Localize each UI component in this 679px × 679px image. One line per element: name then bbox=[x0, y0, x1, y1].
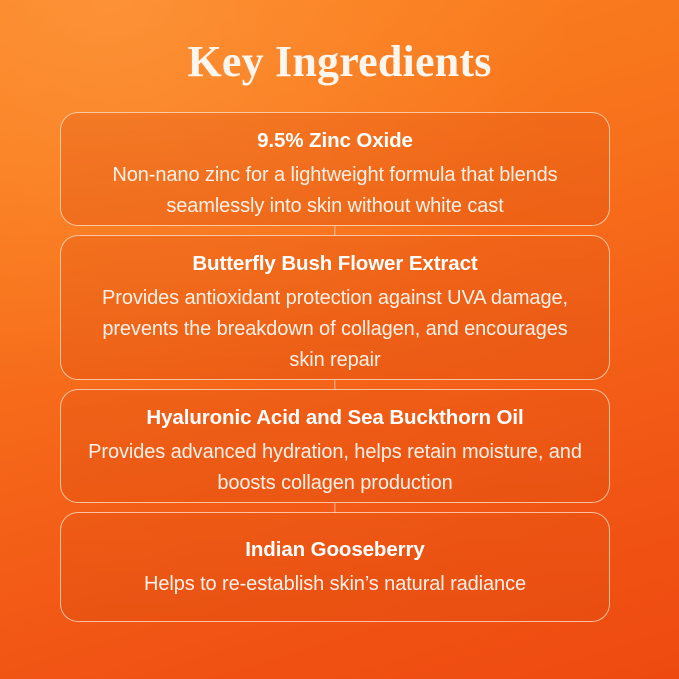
ingredient-card-heading: Hyaluronic Acid and Sea Buckthorn Oil bbox=[83, 404, 587, 432]
key-ingredients-poster: Key Ingredients 9.5% Zinc Oxide Non-nano… bbox=[0, 0, 679, 679]
poster-content: Key Ingredients 9.5% Zinc Oxide Non-nano… bbox=[0, 0, 679, 679]
ingredient-card-body: Provides antioxidant protection against … bbox=[83, 283, 587, 376]
ingredient-card-body: Non-nano zinc for a lightweight formula … bbox=[83, 160, 587, 222]
ingredient-card-zinc-oxide: 9.5% Zinc Oxide Non-nano zinc for a ligh… bbox=[60, 112, 610, 226]
ingredient-card-heading: Indian Gooseberry bbox=[83, 536, 587, 564]
ingredient-card-butterfly-bush-flower-extract: Butterfly Bush Flower Extract Provides a… bbox=[60, 235, 610, 380]
ingredient-card-heading: 9.5% Zinc Oxide bbox=[83, 127, 587, 155]
ingredient-card-body: Helps to re-establish skin’s natural rad… bbox=[83, 569, 587, 600]
ingredient-card-body: Provides advanced hydration, helps retai… bbox=[83, 437, 587, 499]
ingredient-card-hyaluronic-acid-sea-buckthorn-oil: Hyaluronic Acid and Sea Buckthorn Oil Pr… bbox=[60, 389, 610, 503]
ingredient-card-indian-gooseberry: Indian Gooseberry Helps to re-establish … bbox=[60, 512, 610, 622]
ingredient-card-list: 9.5% Zinc Oxide Non-nano zinc for a ligh… bbox=[60, 112, 610, 622]
page-title: Key Ingredients bbox=[0, 36, 679, 88]
ingredient-card-heading: Butterfly Bush Flower Extract bbox=[83, 250, 587, 278]
